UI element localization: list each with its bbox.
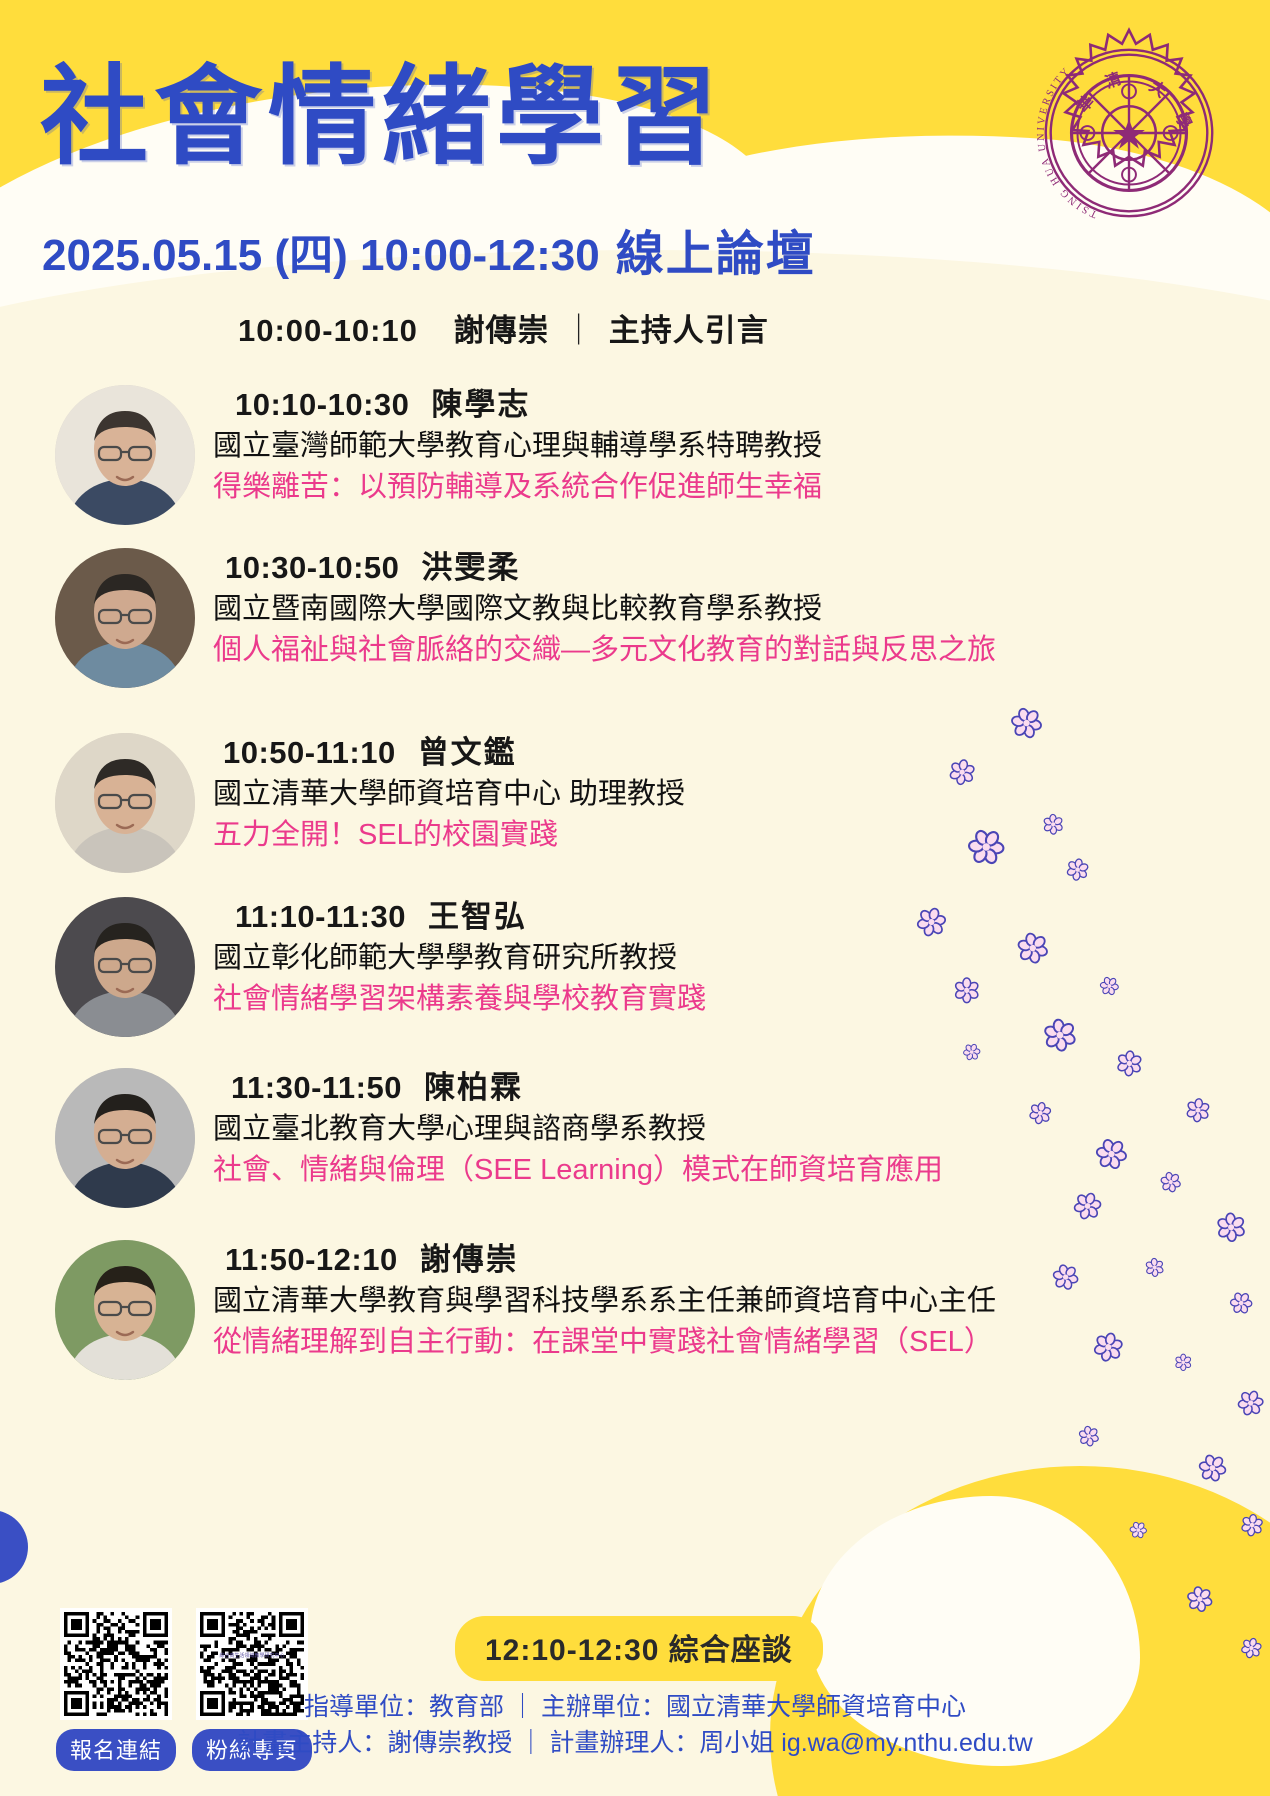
footer-organizer: 主辦單位：國立清華大學師資培育中心 — [541, 1693, 966, 1721]
speaker-affiliation: 國立臺北教育大學心理與諮商學系教授 — [213, 1110, 943, 1148]
speaker-details: 10:30-10:50洪雯柔 國立暨南國際大學國際文教與比較教育學系教授 個人福… — [195, 548, 996, 669]
background-blue-dot — [0, 1510, 28, 1584]
poster-footer: 指導單位：教育部｜主辦單位：國立清華大學師資培育中心 計畫主持人：謝傳崇教授｜計… — [0, 1690, 1270, 1761]
flower-icon — [1087, 1326, 1130, 1373]
speaker-time: 11:10-11:30 — [235, 899, 406, 934]
speaker-affiliation: 國立彰化師範大學學教育研究所教授 — [213, 939, 706, 977]
speaker-name: 王智弘 — [406, 899, 527, 934]
speaker-name: 陳柏霖 — [402, 1070, 523, 1105]
speaker-avatar — [55, 385, 195, 525]
speaker-avatar — [55, 733, 195, 873]
event-datetime-row: 2025.05.15 (四) 10:00-12:30 線上論壇 — [42, 214, 816, 284]
speaker-avatar — [55, 1240, 195, 1380]
flower-icon — [1072, 1421, 1104, 1456]
speaker-time-name: 11:50-12:10謝傳崇 — [213, 1240, 996, 1280]
flower-icon — [1227, 1289, 1255, 1322]
event-date: 2025.05.15 (四) 10:00-12:30 — [42, 219, 600, 283]
nthu-seal-logo: TSING HUA UNIVERSITY 大 清 學 華 — [1020, 24, 1238, 242]
flower-icon — [1033, 1010, 1084, 1064]
speaker-avatar — [55, 548, 195, 688]
speaker-affiliation: 國立清華大學教育與學習科技學系系主任兼師資培育中心主任 — [213, 1282, 996, 1320]
flower-icon — [1154, 1167, 1185, 1201]
host-role: 主持人引言 — [609, 313, 769, 348]
footer-bar-2: ｜ — [512, 1729, 549, 1757]
speaker-topic: 社會情緒學習架構素養與學校教育實踐 — [213, 980, 706, 1018]
flower-icon — [943, 753, 983, 796]
speaker-details: 11:50-12:10謝傳崇 國立清華大學教育與學習科技學系系主任兼師資培育中心… — [195, 1240, 996, 1361]
event-format-label: 線上論壇 — [616, 214, 816, 284]
flower-icon — [1069, 1188, 1107, 1230]
speaker-row: 10:10-10:30陳學志 國立臺灣師範大學教育心理與輔導學系特聘教授 得樂離… — [55, 385, 822, 525]
speaker-avatar — [55, 1068, 195, 1208]
speaker-row: 11:30-11:50陳柏霖 國立臺北教育大學心理與諮商學系教授 社會、情緒與倫… — [55, 1068, 943, 1208]
speaker-topic: 個人福祉與社會脈絡的交織―多元文化教育的對話與反思之旅 — [213, 631, 996, 669]
speaker-name: 洪雯柔 — [399, 550, 520, 585]
speaker-time-name: 10:50-11:10曾文鑑 — [213, 733, 685, 773]
speaker-topic: 得樂離苦：以預防輔導及系統合作促進師生幸福 — [213, 468, 822, 506]
flower-icon — [1009, 925, 1056, 975]
footer-project-lead: 計畫主持人：謝傳崇教授 — [237, 1729, 512, 1757]
flower-icon — [1096, 974, 1122, 1004]
flower-icon — [1234, 1386, 1269, 1425]
flower-icon — [1179, 1092, 1218, 1134]
host-separator: ｜ — [559, 313, 599, 348]
flower-icon — [1046, 1259, 1084, 1300]
footer-line-contacts: 計畫主持人：謝傳崇教授｜計畫辦理人：周小姐 ig.wa@my.nthu.edu.… — [0, 1726, 1270, 1762]
flower-icon — [1106, 1043, 1150, 1089]
flower-icon — [1004, 702, 1048, 750]
footer-project-contact: 計畫辦理人：周小姐 ig.wa@my.nthu.edu.tw — [549, 1729, 1032, 1757]
speaker-time-name: 11:10-11:30王智弘 — [213, 897, 706, 937]
host-intro-line: 10:00-10:10 謝傳崇 ｜ 主持人引言 — [238, 305, 769, 350]
footer-supervisor: 指導單位：教育部 — [304, 1693, 504, 1721]
speaker-affiliation: 國立臺灣師範大學教育心理與輔導學系特聘教授 — [213, 427, 822, 465]
flower-icon — [911, 902, 952, 947]
speaker-time-name: 10:10-10:30陳學志 — [213, 385, 822, 425]
speaker-time-name: 10:30-10:50洪雯柔 — [213, 548, 996, 588]
flower-icon — [961, 1041, 984, 1068]
speaker-time: 10:10-10:30 — [235, 387, 409, 422]
flower-icon — [946, 970, 989, 1015]
speaker-avatar — [55, 897, 195, 1037]
speaker-affiliation: 國立暨南國際大學國際文教與比較教育學系教授 — [213, 590, 996, 628]
poster-root: 社會情緒學習 2025.05.15 (四) 10:00-12:30 線上論壇 — [0, 0, 1270, 1796]
flower-icon — [1206, 1205, 1254, 1255]
speaker-topic: 從情緒理解到自主行動：在課堂中實踐社會情緒學習（SEL） — [213, 1323, 996, 1361]
speaker-row: 11:50-12:10謝傳崇 國立清華大學教育與學習科技學系系主任兼師資培育中心… — [55, 1240, 996, 1380]
flower-icon — [963, 824, 1009, 874]
flower-icon — [1056, 851, 1096, 891]
speaker-time: 11:50-12:10 — [225, 1242, 398, 1277]
flower-icon — [1090, 1133, 1133, 1180]
flower-icon — [1193, 1449, 1232, 1492]
speaker-details: 11:10-11:30王智弘 國立彰化師範大學學教育研究所教授 社會情緒學習架構… — [195, 897, 706, 1018]
panel-discussion-badge: 12:10-12:30 綜合座談 — [455, 1616, 823, 1681]
speaker-time: 11:30-11:50 — [231, 1070, 402, 1105]
svg-text:清: 清 — [1103, 70, 1124, 92]
speaker-name: 謝傳崇 — [398, 1242, 519, 1277]
page-title: 社會情緒學習 — [40, 60, 724, 173]
speaker-time: 10:50-11:10 — [223, 735, 396, 770]
speaker-topic: 社會、情緒與倫理（SEE Learning）模式在師資培育應用 — [213, 1151, 943, 1189]
flower-icon — [1167, 1349, 1197, 1381]
flower-icon — [1139, 1252, 1172, 1287]
footer-line-organizers: 指導單位：教育部｜主辦單位：國立清華大學師資培育中心 — [0, 1690, 1270, 1726]
speaker-name: 陳學志 — [409, 387, 530, 422]
speaker-details: 10:50-11:10曾文鑑 國立清華大學師資培育中心 助理教授 五力全開！SE… — [195, 733, 685, 854]
speaker-affiliation: 國立清華大學師資培育中心 助理教授 — [213, 775, 685, 813]
speaker-time-name: 11:30-11:50陳柏霖 — [213, 1068, 943, 1108]
flower-icon — [1024, 1097, 1058, 1135]
speaker-details: 10:10-10:30陳學志 國立臺灣師範大學教育心理與輔導學系特聘教授 得樂離… — [195, 385, 822, 506]
qr-center-label: 綜合商生活領域教學研究中心 — [196, 1652, 308, 1659]
flower-icon — [1035, 808, 1070, 845]
flower-icon — [1127, 1519, 1150, 1546]
speaker-topic: 五力全開！SEL的校園實踐 — [213, 816, 685, 854]
speaker-row: 10:50-11:10曾文鑑 國立清華大學師資培育中心 助理教授 五力全開！SE… — [55, 733, 685, 873]
speaker-name: 曾文鑑 — [396, 735, 517, 770]
speaker-row: 11:10-11:30王智弘 國立彰化師範大學學教育研究所教授 社會情緒學習架構… — [55, 897, 706, 1037]
speaker-row: 10:30-10:50洪雯柔 國立暨南國際大學國際文教與比較教育學系教授 個人福… — [55, 548, 996, 688]
host-time: 10:00-10:10 — [238, 313, 418, 348]
footer-bar-1: ｜ — [504, 1693, 541, 1721]
host-name: 謝傳崇 — [428, 313, 550, 348]
svg-text:TSING HUA UNIVERSITY: TSING HUA UNIVERSITY — [1036, 65, 1099, 220]
speaker-time: 10:30-10:50 — [225, 550, 399, 585]
speaker-details: 11:30-11:50陳柏霖 國立臺北教育大學心理與諮商學系教授 社會、情緒與倫… — [195, 1068, 943, 1189]
